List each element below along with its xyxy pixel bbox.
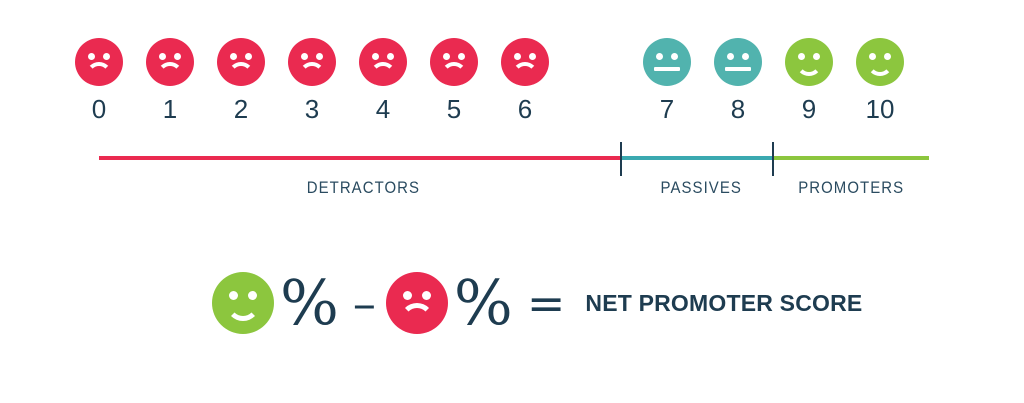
mouth-smile	[796, 63, 822, 76]
scale-number: 10	[844, 94, 916, 124]
eye-right	[671, 53, 678, 60]
eye-right	[103, 53, 110, 60]
sad-face-icon	[217, 38, 265, 86]
mouth-flat	[654, 67, 680, 71]
mouth-smile	[867, 63, 893, 76]
scale-point-4: 4	[347, 38, 419, 124]
segment-label-promoters: PROMOTERS	[798, 178, 904, 198]
eye-left	[372, 53, 379, 60]
mouth-flat	[725, 67, 751, 71]
segment-label-detractors: DETRACTORS	[307, 178, 420, 198]
sad-face-icon	[386, 272, 448, 334]
mouth-smile	[226, 304, 260, 321]
eye-right	[316, 53, 323, 60]
scale-number: 0	[63, 94, 135, 124]
segment-divider-passives-promoters	[772, 142, 774, 176]
eye-right	[248, 291, 257, 300]
eye-left	[798, 53, 805, 60]
mouth-frown	[86, 62, 112, 75]
scale-number: 1	[134, 94, 206, 124]
eye-left	[301, 53, 308, 60]
eye-left	[869, 53, 876, 60]
eye-left	[656, 53, 663, 60]
happy-face-icon	[856, 38, 904, 86]
mouth-frown	[157, 62, 183, 75]
scale-point-5: 5	[418, 38, 490, 124]
nps-infographic: 0 1 2 3	[0, 0, 1024, 403]
scale-point-1: 1	[134, 38, 206, 124]
sad-face-icon	[75, 38, 123, 86]
mouth-frown	[370, 62, 396, 75]
scale-number: 3	[276, 94, 348, 124]
neutral-face-icon	[714, 38, 762, 86]
scale-point-7: 7	[631, 38, 703, 124]
scale-point-3: 3	[276, 38, 348, 124]
eye-left	[230, 53, 237, 60]
scale-number: 2	[205, 94, 277, 124]
nps-formula: % – % = NET PROMOTER SCORE	[212, 258, 862, 348]
mouth-frown	[441, 62, 467, 75]
percent-promoters: %	[280, 272, 339, 334]
eye-right	[529, 53, 536, 60]
scale-number: 6	[489, 94, 561, 124]
mouth-frown	[400, 303, 434, 320]
eye-right	[174, 53, 181, 60]
axis-segment-promoters	[772, 156, 929, 160]
eye-left	[727, 53, 734, 60]
segment-divider-detractors-passives	[620, 142, 622, 176]
axis-segment-passives	[620, 156, 772, 160]
scale-point-9: 9	[773, 38, 845, 124]
scale-number: 7	[631, 94, 703, 124]
eye-right	[458, 53, 465, 60]
scale-point-8: 8	[702, 38, 774, 124]
scale-point-0: 0	[63, 38, 135, 124]
sad-face-icon	[288, 38, 336, 86]
mouth-frown	[512, 62, 538, 75]
eye-left	[443, 53, 450, 60]
mouth-frown	[228, 62, 254, 75]
minus-operator: –	[353, 280, 376, 326]
scale-point-2: 2	[205, 38, 277, 124]
eye-left	[229, 291, 238, 300]
eye-right	[245, 53, 252, 60]
happy-face-icon	[212, 272, 274, 334]
scale-point-6: 6	[489, 38, 561, 124]
segment-label-passives: PASSIVES	[661, 178, 742, 198]
sad-face-icon	[430, 38, 478, 86]
neutral-face-icon	[643, 38, 691, 86]
sad-face-icon	[359, 38, 407, 86]
eye-right	[422, 291, 431, 300]
eye-right	[884, 53, 891, 60]
net-promoter-score-label: NET PROMOTER SCORE	[585, 290, 862, 317]
mouth-frown	[299, 62, 325, 75]
eye-left	[88, 53, 95, 60]
eye-right	[387, 53, 394, 60]
equals-operator: =	[527, 280, 566, 326]
eye-right	[742, 53, 749, 60]
scale-number: 4	[347, 94, 419, 124]
eye-right	[813, 53, 820, 60]
nps-scale: 0 1 2 3	[99, 38, 929, 213]
sad-face-icon	[146, 38, 194, 86]
scale-number: 9	[773, 94, 845, 124]
scale-number: 5	[418, 94, 490, 124]
nps-axis-line	[99, 156, 929, 160]
eye-left	[403, 291, 412, 300]
eye-left	[159, 53, 166, 60]
percent-detractors: %	[454, 272, 513, 334]
sad-face-icon	[501, 38, 549, 86]
scale-point-10: 10	[844, 38, 916, 124]
happy-face-icon	[785, 38, 833, 86]
axis-segment-detractors	[99, 156, 620, 160]
eye-left	[514, 53, 521, 60]
scale-number: 8	[702, 94, 774, 124]
